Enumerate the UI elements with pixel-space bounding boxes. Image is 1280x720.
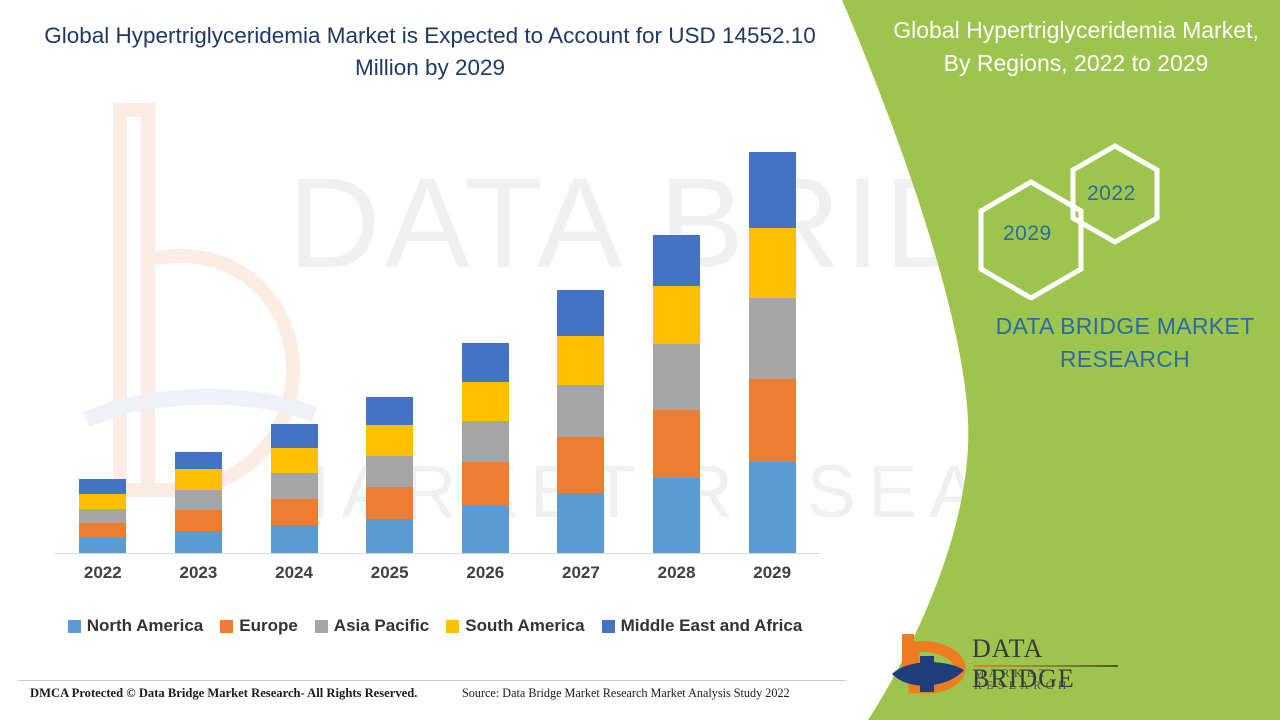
bar-segment [653,344,700,409]
bar-slot [629,150,725,553]
bar-segment [462,421,509,462]
bar-segment [462,343,509,381]
infographic-canvas: DATA BRIDGE MARKET RESEARCH Global Hyper… [0,0,1280,720]
bar-slot [438,150,534,553]
legend-item[interactable]: Europe [220,616,298,636]
bar-segment [366,397,413,425]
legend-item[interactable]: South America [446,616,584,636]
legend-swatch-icon [446,620,459,633]
x-axis-line [55,553,820,554]
page-title: Global Hypertriglyceridemia Market is Ex… [40,20,820,84]
bar-segment [175,452,222,469]
bar-segment [175,469,222,489]
bar-segment [557,385,604,437]
bar-segment [79,494,126,509]
legend-label: Europe [239,616,298,636]
bar-segment [462,462,509,505]
dbmr-logo: DATA BRIDGE MARKET RESEARCH [890,630,1122,696]
legend-label: North America [87,616,204,636]
legend-swatch-icon [220,620,233,633]
bar-stack-2027 [557,290,604,553]
bar-segment [557,336,604,384]
bar-group [55,150,820,553]
bar-segment [79,538,126,553]
bar-segment [271,448,318,473]
bar-slot [55,150,151,553]
brand-name: DATA BRIDGE MARKET RESEARCH [940,310,1280,377]
bar-stack-2022 [79,479,126,553]
bar-segment [462,382,509,421]
chart-plot-area [55,150,820,554]
bar-segment [557,493,604,553]
bar-stack-2025 [366,397,413,553]
panel-title: Global Hypertriglyceridemia Market, By R… [880,14,1272,81]
x-tick-2027: 2027 [533,563,629,583]
bar-segment [271,473,318,498]
bar-segment [653,478,700,553]
bar-segment [366,519,413,553]
legend-label: South America [465,616,584,636]
bar-segment [175,510,222,531]
bar-segment [79,509,126,523]
x-tick-2028: 2028 [629,563,725,583]
bar-segment [653,410,700,479]
hexagon-2022-label: 2022 [1087,182,1136,206]
x-tick-2022: 2022 [55,563,151,583]
x-tick-2024: 2024 [246,563,342,583]
footer-source: Source: Data Bridge Market Research Mark… [462,686,790,701]
bar-segment [462,506,509,553]
hexagon-group: 2022 2029 [965,140,1195,300]
footer-copyright: DMCA Protected © Data Bridge Market Rese… [30,686,417,701]
bar-segment [79,523,126,538]
bar-segment [557,290,604,336]
bar-stack-2028 [653,235,700,553]
bar-segment [749,228,796,299]
bar-slot [342,150,438,553]
bar-stack-2026 [462,343,509,553]
legend-swatch-icon [68,620,81,633]
legend-swatch-icon [315,620,328,633]
bar-segment [653,286,700,344]
x-tick-2026: 2026 [438,563,534,583]
bar-slot [151,150,247,553]
legend-item[interactable]: Middle East and Africa [602,616,803,636]
bar-segment [175,531,222,553]
legend-label: Asia Pacific [334,616,429,636]
bar-segment [749,379,796,463]
legend-swatch-icon [602,620,615,633]
logo-divider [974,665,1118,667]
legend-item[interactable]: Asia Pacific [315,616,429,636]
bar-segment [749,152,796,228]
bar-segment [749,462,796,553]
hexagon-2029-label: 2029 [1003,222,1052,246]
legend-label: Middle East and Africa [621,616,803,636]
bar-segment [271,499,318,525]
bar-segment [366,456,413,486]
x-tick-2023: 2023 [151,563,247,583]
bar-segment [366,487,413,519]
bar-segment [79,479,126,493]
dbmr-b-mark-icon [890,630,970,694]
bar-stack-2024 [271,424,318,553]
bar-slot [724,150,820,553]
chart-legend: North AmericaEuropeAsia PacificSouth Ame… [40,616,830,636]
footer-divider [18,680,846,681]
bar-segment [175,490,222,510]
bar-segment [271,424,318,448]
bar-segment [271,525,318,553]
bar-segment [749,298,796,379]
bar-stack-2029 [749,152,796,553]
x-tick-2025: 2025 [342,563,438,583]
bar-segment [557,437,604,492]
x-axis-labels: 20222023202420252026202720282029 [55,563,820,583]
legend-item[interactable]: North America [68,616,204,636]
x-tick-2029: 2029 [724,563,820,583]
bar-segment [653,235,700,286]
hexagon-outlines-icon [965,140,1195,300]
logo-subtitle: MARKET RESEARCH [974,668,1122,692]
bar-segment [366,425,413,456]
bar-slot [533,150,629,553]
bar-slot [246,150,342,553]
bar-stack-2023 [175,452,222,553]
